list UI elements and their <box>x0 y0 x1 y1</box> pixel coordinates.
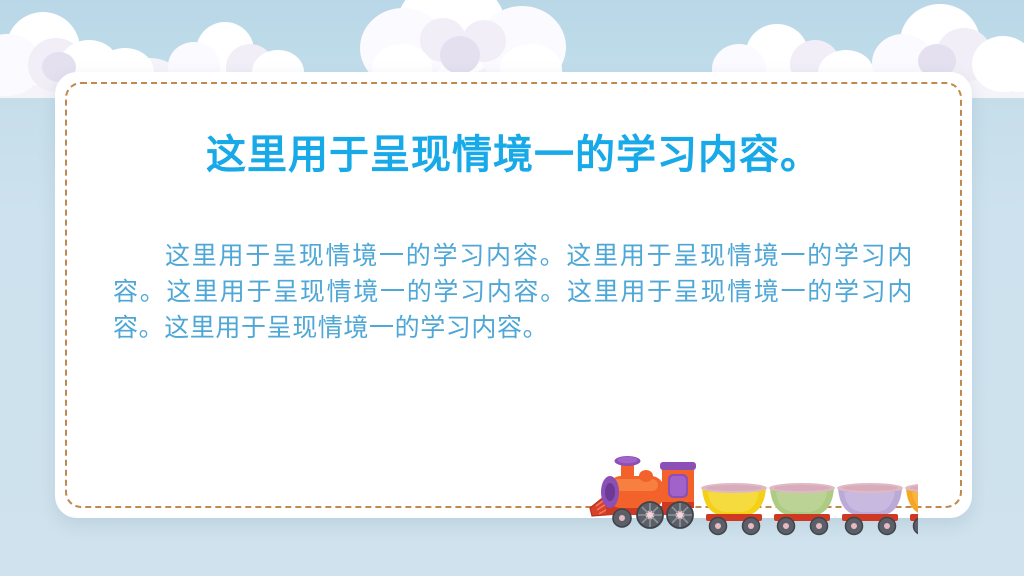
locomotive <box>590 456 696 528</box>
train-car-purple <box>837 483 903 535</box>
train-car-green <box>769 483 835 535</box>
slide-canvas: 这里用于呈现情境一的学习内容。 这里用于呈现情境一的学习内容。这里用于呈现情境一… <box>0 0 1024 576</box>
loco-wheel-large <box>667 502 693 528</box>
body-paragraph: 这里用于呈现情境一的学习内容。这里用于呈现情境一的学习内容。这里用于呈现情境一的… <box>113 238 913 346</box>
loco-wheel-small <box>613 509 631 527</box>
train-illustration <box>588 452 918 542</box>
page-title: 这里用于呈现情境一的学习内容。 <box>55 122 972 180</box>
train-car-orange <box>905 483 918 535</box>
loco-wheel-large <box>637 502 663 528</box>
train-car-yellow <box>701 483 767 535</box>
cloud-puff <box>440 36 480 74</box>
